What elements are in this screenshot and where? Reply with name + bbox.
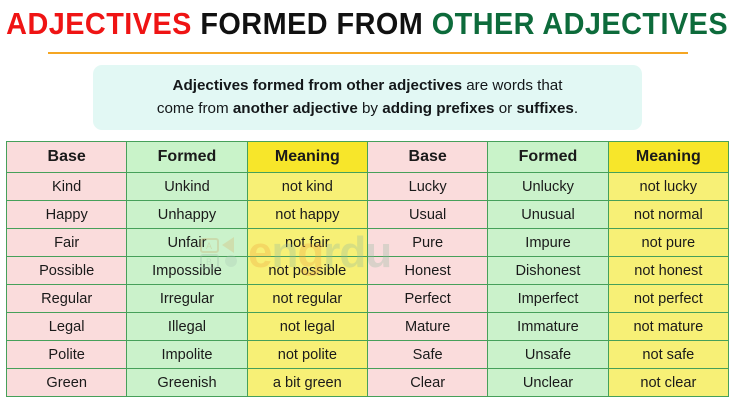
cell-base-right: Clear <box>367 369 487 397</box>
definition-bold-1: Adjectives formed from other adjectives <box>173 77 463 94</box>
table-row: Legal Illegal not legal Mature Immature … <box>7 313 729 341</box>
cell-base-right: Pure <box>367 229 487 257</box>
cell-base-left: Regular <box>7 285 127 313</box>
cell-meaning-left: not regular <box>247 285 367 313</box>
definition-text-1: are words that <box>462 77 562 94</box>
cell-base-left: Green <box>7 369 127 397</box>
column-header-meaning-left: Meaning <box>247 142 367 173</box>
cell-formed-right: Unusual <box>488 201 608 229</box>
table-body: Kind Unkind not kind Lucky Unlucky not l… <box>7 173 729 397</box>
cell-base-left: Legal <box>7 313 127 341</box>
cell-meaning-right: not normal <box>608 201 728 229</box>
title-part-green: OTHER ADJECTIVES <box>432 6 728 41</box>
page-title-bar: ADJECTIVES FORMED FROM OTHER ADJECTIVES <box>0 0 735 46</box>
cell-base-left: Possible <box>7 257 127 285</box>
cell-meaning-right: not lucky <box>608 173 728 201</box>
cell-formed-right: Imperfect <box>488 285 608 313</box>
table-row: Fair Unfair not fair Pure Impure not pur… <box>7 229 729 257</box>
cell-meaning-left: not possible <box>247 257 367 285</box>
cell-base-left: Fair <box>7 229 127 257</box>
cell-meaning-right: not perfect <box>608 285 728 313</box>
definition-text-3: by <box>358 100 382 117</box>
cell-meaning-right: not honest <box>608 257 728 285</box>
cell-base-left: Kind <box>7 173 127 201</box>
cell-formed-right: Unsafe <box>488 341 608 369</box>
column-header-formed-left: Formed <box>127 142 247 173</box>
definition-wrap: Adjectives formed from other adjectives … <box>0 65 735 130</box>
cell-base-right: Honest <box>367 257 487 285</box>
title-divider-wrap <box>0 46 735 54</box>
table-row: Possible Impossible not possible Honest … <box>7 257 729 285</box>
cell-formed-right: Dishonest <box>488 257 608 285</box>
table-row: Polite Impolite not polite Safe Unsafe n… <box>7 341 729 369</box>
table-row: Regular Irregular not regular Perfect Im… <box>7 285 729 313</box>
cell-base-right: Perfect <box>367 285 487 313</box>
cell-base-left: Happy <box>7 201 127 229</box>
cell-base-right: Safe <box>367 341 487 369</box>
cell-formed-left: Impolite <box>127 341 247 369</box>
table-header-row: Base Formed Meaning Base Formed Meaning <box>7 142 729 173</box>
cell-formed-left: Unkind <box>127 173 247 201</box>
table-wrap: Base Formed Meaning Base Formed Meaning … <box>0 141 735 397</box>
definition-text-5: . <box>574 100 578 117</box>
title-part-black: FORMED FROM <box>201 6 432 41</box>
column-header-meaning-right: Meaning <box>608 142 728 173</box>
cell-meaning-right: not clear <box>608 369 728 397</box>
cell-formed-left: Impossible <box>127 257 247 285</box>
definition-bold-4: suffixes <box>516 100 573 117</box>
table-row: Green Greenish a bit green Clear Unclear… <box>7 369 729 397</box>
cell-base-right: Mature <box>367 313 487 341</box>
cell-formed-left: Unfair <box>127 229 247 257</box>
cell-formed-right: Unclear <box>488 369 608 397</box>
cell-meaning-left: not fair <box>247 229 367 257</box>
definition-bold-2: another adjective <box>233 100 358 117</box>
definition-box: Adjectives formed from other adjectives … <box>93 65 642 130</box>
cell-formed-right: Unlucky <box>488 173 608 201</box>
definition-bold-3: adding prefixes <box>382 100 494 117</box>
cell-meaning-right: not safe <box>608 341 728 369</box>
cell-base-right: Usual <box>367 201 487 229</box>
cell-meaning-left: not happy <box>247 201 367 229</box>
cell-meaning-left: not polite <box>247 341 367 369</box>
definition-text-4: or <box>495 100 517 117</box>
definition-text-2: come from <box>157 100 233 117</box>
cell-base-right: Lucky <box>367 173 487 201</box>
cell-formed-left: Unhappy <box>127 201 247 229</box>
cell-formed-right: Immature <box>488 313 608 341</box>
cell-formed-left: Greenish <box>127 369 247 397</box>
cell-formed-left: Irregular <box>127 285 247 313</box>
cell-formed-right: Impure <box>488 229 608 257</box>
title-divider <box>48 52 688 54</box>
column-header-base-right: Base <box>367 142 487 173</box>
cell-meaning-left: not legal <box>247 313 367 341</box>
column-header-base-left: Base <box>7 142 127 173</box>
cell-meaning-left: not kind <box>247 173 367 201</box>
page-title: ADJECTIVES FORMED FROM OTHER ADJECTIVES <box>7 6 729 42</box>
column-header-formed-right: Formed <box>488 142 608 173</box>
title-part-red: ADJECTIVES <box>7 6 201 41</box>
cell-base-left: Polite <box>7 341 127 369</box>
table-row: Kind Unkind not kind Lucky Unlucky not l… <box>7 173 729 201</box>
cell-formed-left: Illegal <box>127 313 247 341</box>
cell-meaning-right: not mature <box>608 313 728 341</box>
adjectives-table: Base Formed Meaning Base Formed Meaning … <box>6 141 729 397</box>
table-row: Happy Unhappy not happy Usual Unusual no… <box>7 201 729 229</box>
cell-meaning-right: not pure <box>608 229 728 257</box>
cell-meaning-left: a bit green <box>247 369 367 397</box>
